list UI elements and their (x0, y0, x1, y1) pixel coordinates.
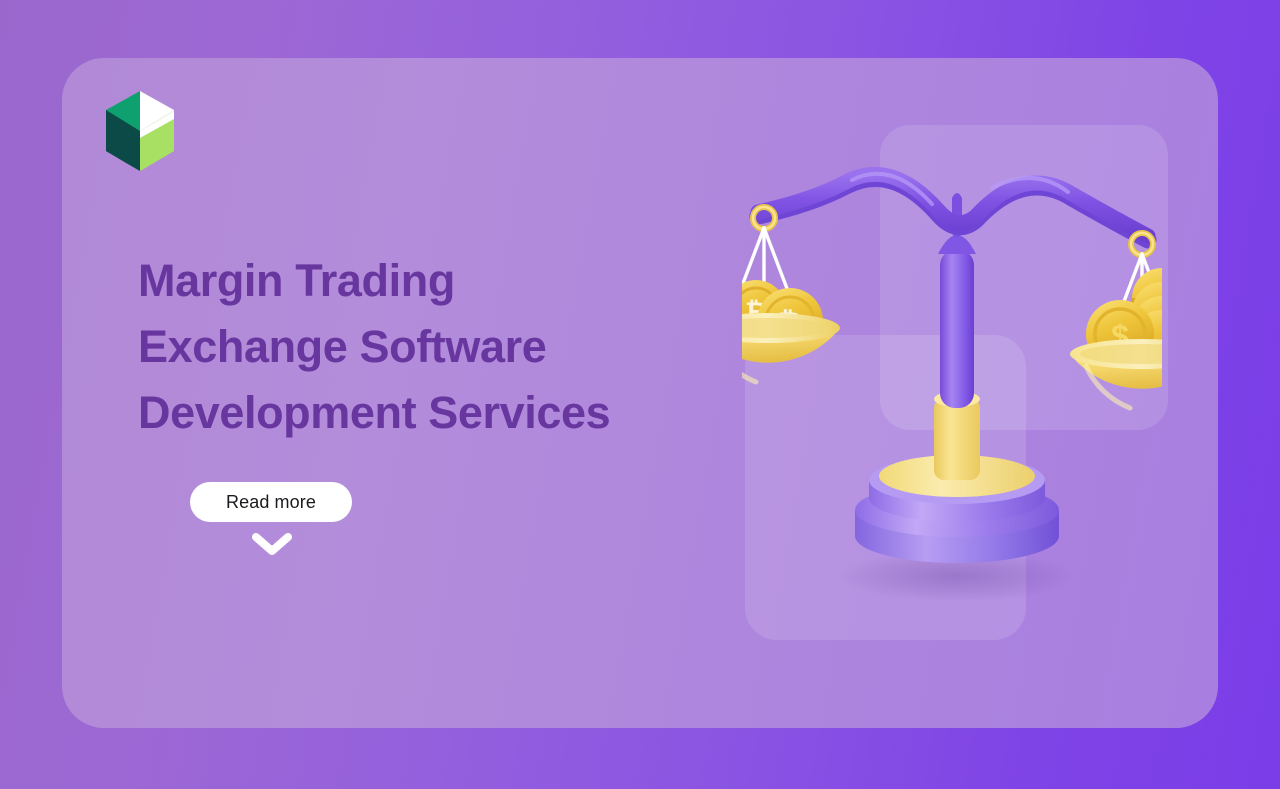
deco-square-bottom-left (745, 335, 1026, 640)
hero-banner-card: Margin Trading Exchange Software Develop… (62, 58, 1218, 728)
left-hanger-ring (753, 207, 775, 229)
headline-line-3: Development Services (138, 380, 758, 446)
headline-line-2: Exchange Software (138, 314, 758, 380)
page-title: Margin Trading Exchange Software Develop… (138, 248, 758, 446)
headline-line-1: Margin Trading (138, 248, 758, 314)
read-more-button[interactable]: Read more (190, 482, 352, 522)
brand-logo[interactable] (104, 90, 176, 172)
chevron-down-icon[interactable] (250, 530, 294, 558)
